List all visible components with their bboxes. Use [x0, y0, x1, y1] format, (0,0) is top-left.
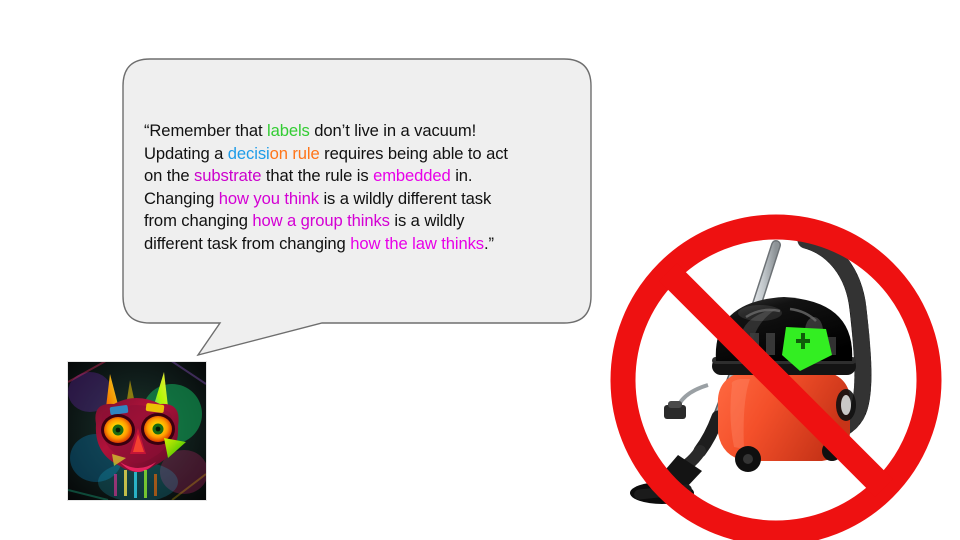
quote-run-19: how the law thinks	[350, 234, 484, 253]
quote-run-2: don’t live in a vacuum!	[310, 121, 476, 140]
quote-run-11: in.	[451, 166, 473, 185]
quote-run-18: different task from changing	[144, 234, 350, 253]
quote-run-7: on the	[144, 166, 194, 185]
quote-run-0: “Remember that	[144, 121, 267, 140]
mask-painting-thumbnail	[68, 362, 206, 500]
bubble-quote-text: “Remember that labels don’t live in a va…	[144, 120, 576, 256]
quote-run-6: requires being able to act	[320, 144, 508, 163]
speech-bubble: “Remember that labels don’t live in a va…	[122, 58, 592, 358]
quote-run-15: from changing	[144, 211, 252, 230]
quote-run-5: on rule	[270, 144, 320, 163]
quote-run-12: Changing	[144, 189, 219, 208]
quote-run-10: embedded	[373, 166, 451, 185]
no-vacuum-sign	[600, 205, 960, 540]
quote-run-17: is a wildly	[390, 211, 464, 230]
quote-run-1: labels	[267, 121, 310, 140]
quote-run-9: that the rule is	[261, 166, 373, 185]
quote-run-13: how you think	[219, 189, 319, 208]
quote-run-4: decisi	[228, 144, 270, 163]
quote-run-20: .”	[484, 234, 494, 253]
no-vacuum-graphic	[600, 205, 960, 540]
quote-run-14: is a wildly different task	[319, 189, 491, 208]
prohibition-overlay	[623, 227, 929, 533]
quote-run-8: substrate	[194, 166, 261, 185]
quote-run-3: Updating a	[144, 144, 228, 163]
mask-painting-art	[68, 362, 206, 500]
slide-canvas: “Remember that labels don’t live in a va…	[0, 0, 960, 540]
quote-run-16: how a group thinks	[252, 211, 390, 230]
